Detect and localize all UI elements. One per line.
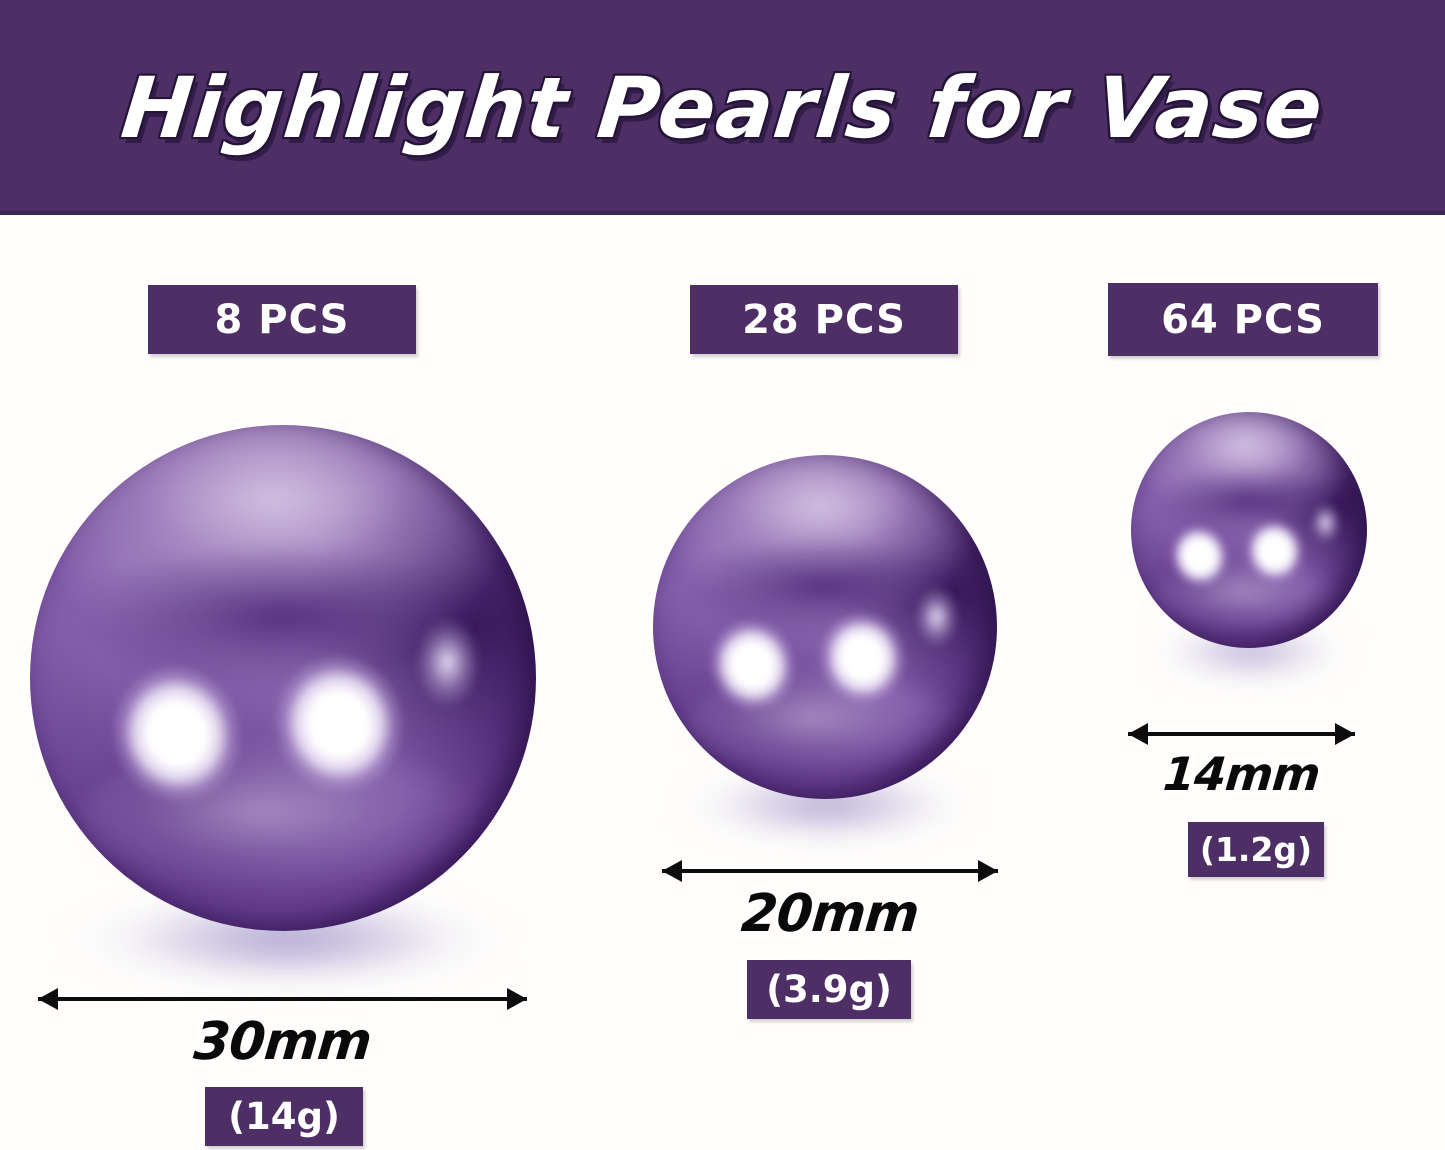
weight-badge-medium: (3.9g)	[747, 960, 911, 1019]
dimension-line-small	[1128, 732, 1355, 736]
pearl-edge-highlight-medium	[914, 586, 959, 648]
pearl-edge-highlight-small	[1310, 502, 1341, 544]
arrow-head-left-icon	[1128, 723, 1148, 745]
dimension-arrow-small	[1128, 723, 1355, 745]
pearl-edge-highlight-large	[415, 617, 481, 708]
pearl-image-small	[1131, 412, 1367, 648]
page-title: Highlight Pearls for Vase	[0, 58, 1445, 158]
pcs-badge-medium: 28 PCS	[690, 285, 958, 354]
pcs-badge-small: 64 PCS	[1108, 283, 1378, 356]
diameter-label-small: 14mm	[1116, 747, 1368, 801]
pearl-image-large	[30, 425, 536, 931]
header-underline-divider	[0, 211, 1445, 215]
diameter-label-large: 30mm	[35, 1012, 529, 1072]
arrow-head-left-icon	[38, 988, 58, 1010]
weight-badge-large: (14g)	[205, 1087, 363, 1146]
infographic-page: Highlight Pearls for Vase 8 PCS 28 PCS 6…	[0, 0, 1445, 1150]
arrow-head-right-icon	[1335, 723, 1355, 745]
dimension-arrow-large	[38, 988, 527, 1010]
dimension-line-large	[38, 997, 527, 1001]
dimension-arrow-medium	[662, 860, 998, 882]
diameter-label-medium: 20mm	[659, 884, 1000, 944]
arrow-head-left-icon	[662, 860, 682, 882]
arrow-head-right-icon	[507, 988, 527, 1010]
pcs-badge-large: 8 PCS	[148, 285, 416, 354]
arrow-head-right-icon	[978, 860, 998, 882]
dimension-line-medium	[662, 869, 998, 873]
weight-badge-small: (1.2g)	[1188, 822, 1324, 877]
pearl-image-medium	[653, 455, 997, 799]
